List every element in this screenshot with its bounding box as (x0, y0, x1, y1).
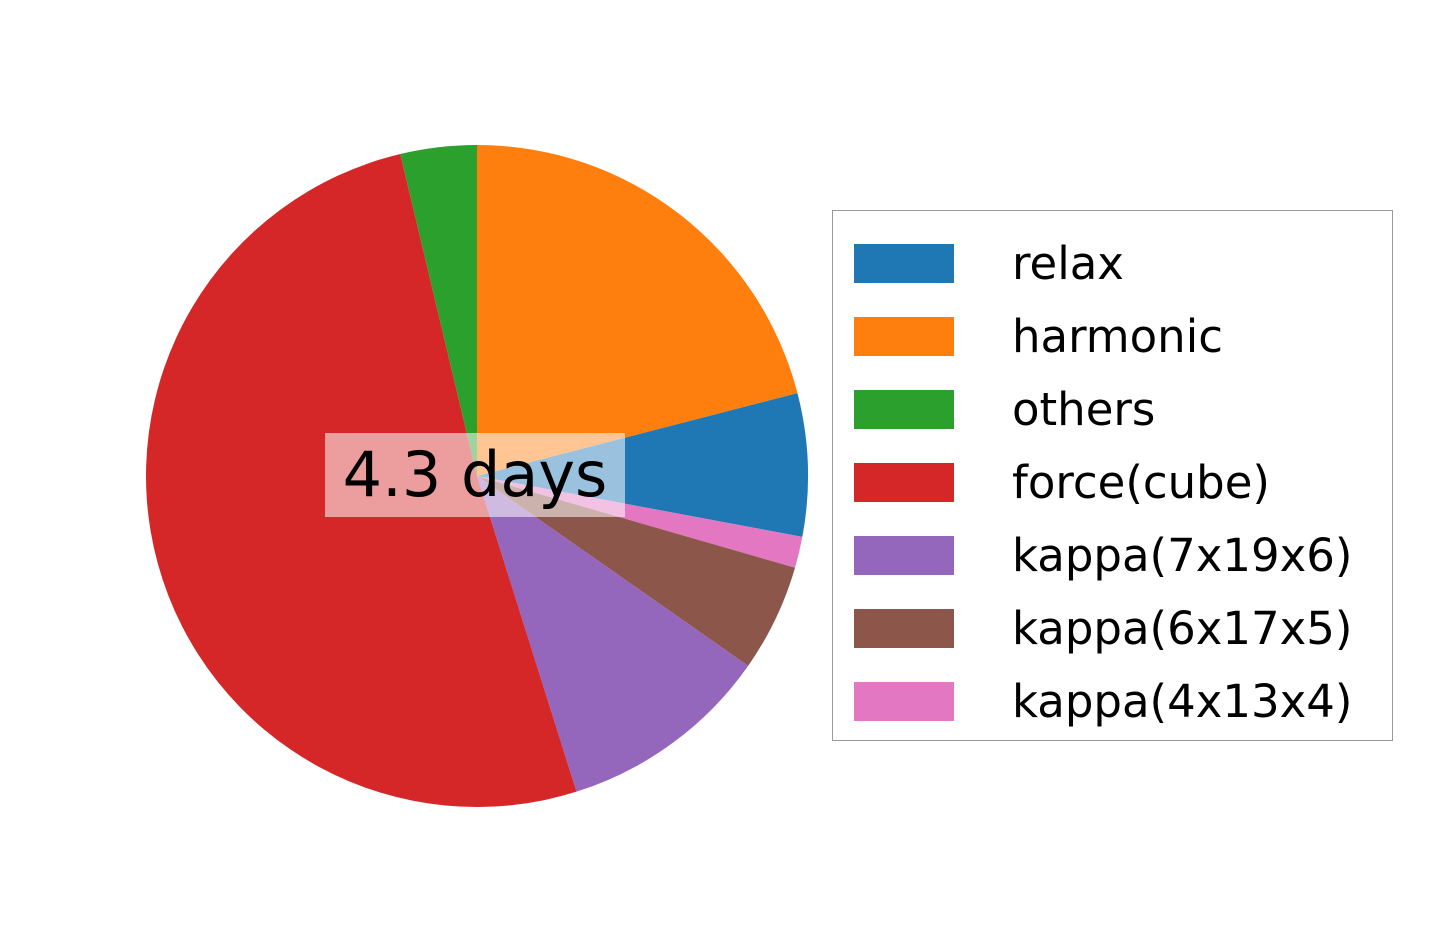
legend-box: relaxharmonicothersforce(cube)kappa(7x19… (832, 210, 1393, 741)
legend-label: kappa(7x19x6) (1012, 533, 1352, 578)
legend-label: relax (1012, 241, 1124, 286)
legend-item[interactable]: kappa(6x17x5) (833, 592, 1392, 665)
legend-swatch-icon (854, 682, 954, 721)
legend-label: force(cube) (1012, 460, 1270, 505)
legend-item-list: relaxharmonicothersforce(cube)kappa(7x19… (833, 211, 1392, 740)
legend-swatch-icon (854, 390, 954, 429)
legend-item[interactable]: relax (833, 227, 1392, 300)
legend-swatch-icon (854, 317, 954, 356)
figure-canvas: 4.3 days relaxharmonicothersforce(cube)k… (0, 0, 1451, 951)
legend-swatch-icon (854, 463, 954, 502)
legend-label: harmonic (1012, 314, 1223, 359)
legend-item[interactable]: force(cube) (833, 446, 1392, 519)
legend-item[interactable]: harmonic (833, 300, 1392, 373)
legend-swatch-icon (854, 244, 954, 283)
legend-item[interactable]: others (833, 373, 1392, 446)
legend-label: kappa(4x13x4) (1012, 679, 1352, 724)
legend-item[interactable]: kappa(7x19x6) (833, 519, 1392, 592)
legend-label: others (1012, 387, 1155, 432)
center-annotation-text: 4.3 days (343, 444, 608, 506)
legend-label: kappa(6x17x5) (1012, 606, 1352, 651)
legend-item[interactable]: kappa(4x13x4) (833, 665, 1392, 738)
legend-swatch-icon (854, 536, 954, 575)
legend-swatch-icon (854, 609, 954, 648)
center-annotation: 4.3 days (325, 433, 625, 517)
